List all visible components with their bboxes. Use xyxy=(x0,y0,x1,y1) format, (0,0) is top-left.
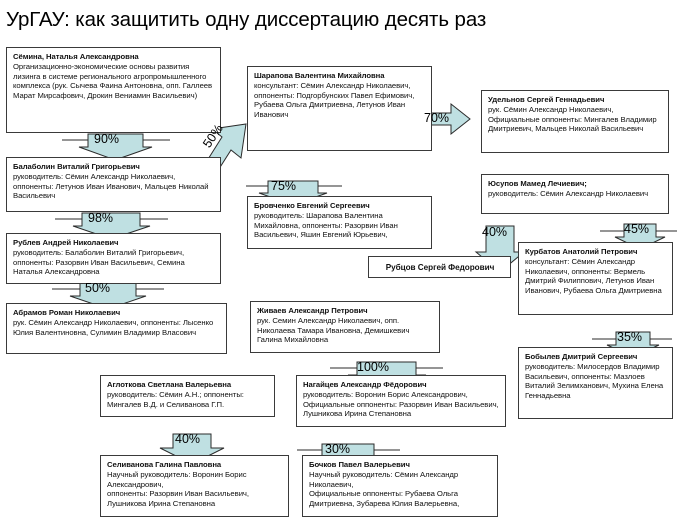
node-rubtsov[interactable]: Рубцов Сергей Федорович xyxy=(368,256,511,278)
node-zhivaev[interactable]: Живаев Александр Петрович рук. Семин Але… xyxy=(250,301,440,353)
node-nagaytsev-name: Нагайцев Александр Фёдорович xyxy=(303,380,500,390)
node-zhivaev-name: Живаев Александр Петрович xyxy=(257,306,434,316)
node-yusupov-desc: руководитель: Сёмин Александр Николаевич xyxy=(488,189,663,199)
node-yusupov[interactable]: Юсупов Мамед Лечиевич; руководитель: Сём… xyxy=(481,174,669,214)
node-abramov-desc: рук. Сёмин Александр Николаевич, оппонен… xyxy=(13,318,221,337)
node-selivanova-name: Селиванова Галина Павловна xyxy=(107,460,283,470)
node-sharapova[interactable]: Шарапова Валентина Михайловна консультан… xyxy=(247,66,432,151)
node-sharapova-desc: консультант: Сёмин Александр Николаевич,… xyxy=(254,81,426,119)
edge-label-nagaytsev-bochkov: 30% xyxy=(325,443,350,456)
node-bochkov[interactable]: Бочков Павел Валерьевич Научный руководи… xyxy=(302,455,498,517)
edge-label-sharapova-brovchenko: 75% xyxy=(271,180,296,193)
node-sharapova-name: Шарапова Валентина Михайловна xyxy=(254,71,426,81)
node-rublev-name: Рублев Андрей Николаевич xyxy=(13,238,215,248)
node-aglotkova-name: Аглоткова Светлана Валерьевна xyxy=(107,380,269,390)
node-abramov-name: Абрамов Роман Николаевич xyxy=(13,308,221,318)
node-brovchenko-name: Бровченко Евгений Сергеевич xyxy=(254,201,426,211)
node-semina[interactable]: Сёмина, Наталья Александровна Организаци… xyxy=(6,47,221,133)
node-aglotkova-desc: руководитель: Сёмин А.Н.; оппоненты: Мин… xyxy=(107,390,269,409)
node-bochkov-desc2: Официальные оппоненты: Рубаева Ольга Дми… xyxy=(309,489,492,508)
node-kurbatov[interactable]: Курбатов Анатолий Петрович консультант: … xyxy=(518,242,673,315)
edge-label-semina-balabolin: 90% xyxy=(94,133,119,146)
node-aglotkova[interactable]: Аглоткова Светлана Валерьевна руководите… xyxy=(100,375,275,417)
node-balabolin-name: Балаболин Виталий Григорьевич xyxy=(13,162,215,172)
edge-label-balabolin-rublev: 98% xyxy=(88,212,113,225)
node-rublev[interactable]: Рублев Андрей Николаевич руководитель: Б… xyxy=(6,233,221,284)
node-selivanova[interactable]: Селиванова Галина Павловна Научный руков… xyxy=(100,455,289,517)
node-udelnov[interactable]: Удельнов Сергей Геннадьевич рук. Сёмин А… xyxy=(481,90,669,153)
node-udelnov-name: Удельнов Сергей Геннадьевич xyxy=(488,95,663,105)
node-selivanova-desc2: оппоненты: Разорвин Иван Васильевич, Луш… xyxy=(107,489,283,508)
node-kurbatov-desc: консультант: Сёмин Александр Николаевич,… xyxy=(525,257,667,295)
node-brovchenko-desc: руководитель: Шарапова Валентина Михайло… xyxy=(254,211,426,240)
edge-label-sharapova-udelnov: 70% xyxy=(424,112,449,125)
node-semina-desc: Организационно-экономические основы разв… xyxy=(13,62,215,100)
node-bobylev[interactable]: Бобылев Дмитрий Сергеевич руководитель: … xyxy=(518,347,673,419)
node-bochkov-name: Бочков Павел Валерьевич xyxy=(309,460,492,470)
edge-label-yusupov-rubtsov: 40% xyxy=(482,226,507,239)
node-yusupov-name: Юсупов Мамед Лечиевич; xyxy=(488,179,663,189)
edge-label-kurbatov-bobylev: 35% xyxy=(617,331,642,344)
node-rublev-desc: руководитель: Балаболин Виталий Григорье… xyxy=(13,248,215,277)
edge-label-zhivaev-nagaytsev: 100% xyxy=(357,361,389,374)
node-kurbatov-name: Курбатов Анатолий Петрович xyxy=(525,247,667,257)
edge-label-yusupov-kurbatov: 45% xyxy=(624,223,649,236)
node-nagaytsev[interactable]: Нагайцев Александр Фёдорович руководител… xyxy=(296,375,506,427)
node-zhivaev-desc: рук. Семин Александр Николаевич, опп. Ни… xyxy=(257,316,434,345)
edge-label-aglotkova-selivanova: 40% xyxy=(175,433,200,446)
node-semina-name: Сёмина, Наталья Александровна xyxy=(13,52,215,62)
node-brovchenko[interactable]: Бровченко Евгений Сергеевич руководитель… xyxy=(247,196,432,249)
node-selivanova-desc: Научный руководитель: Воронин Борис Алек… xyxy=(107,470,283,489)
node-balabolin[interactable]: Балаболин Виталий Григорьевич руководите… xyxy=(6,157,221,212)
node-bochkov-desc: Научный руководитель: Сёмин Александр Ни… xyxy=(309,470,492,489)
node-udelnov-desc: рук. Сёмин Александр Николаевич, Официал… xyxy=(488,105,663,134)
node-balabolin-desc: руководитель: Сёмин Александр Николаевич… xyxy=(13,172,215,201)
node-abramov[interactable]: Абрамов Роман Николаевич рук. Сёмин Алек… xyxy=(6,303,227,354)
node-rubtsov-name: Рубцов Сергей Федорович xyxy=(386,263,495,273)
diagram-canvas: УрГАУ: как защитить одну диссертацию дес… xyxy=(0,0,677,527)
node-bobylev-desc: руководитель: Милосердов Владимир Василь… xyxy=(525,362,667,400)
node-nagaytsev-desc: руководитель: Воронин Борис Александрови… xyxy=(303,390,500,419)
node-bobylev-name: Бобылев Дмитрий Сергеевич xyxy=(525,352,667,362)
edge-label-rublev-abramov: 50% xyxy=(85,282,110,295)
